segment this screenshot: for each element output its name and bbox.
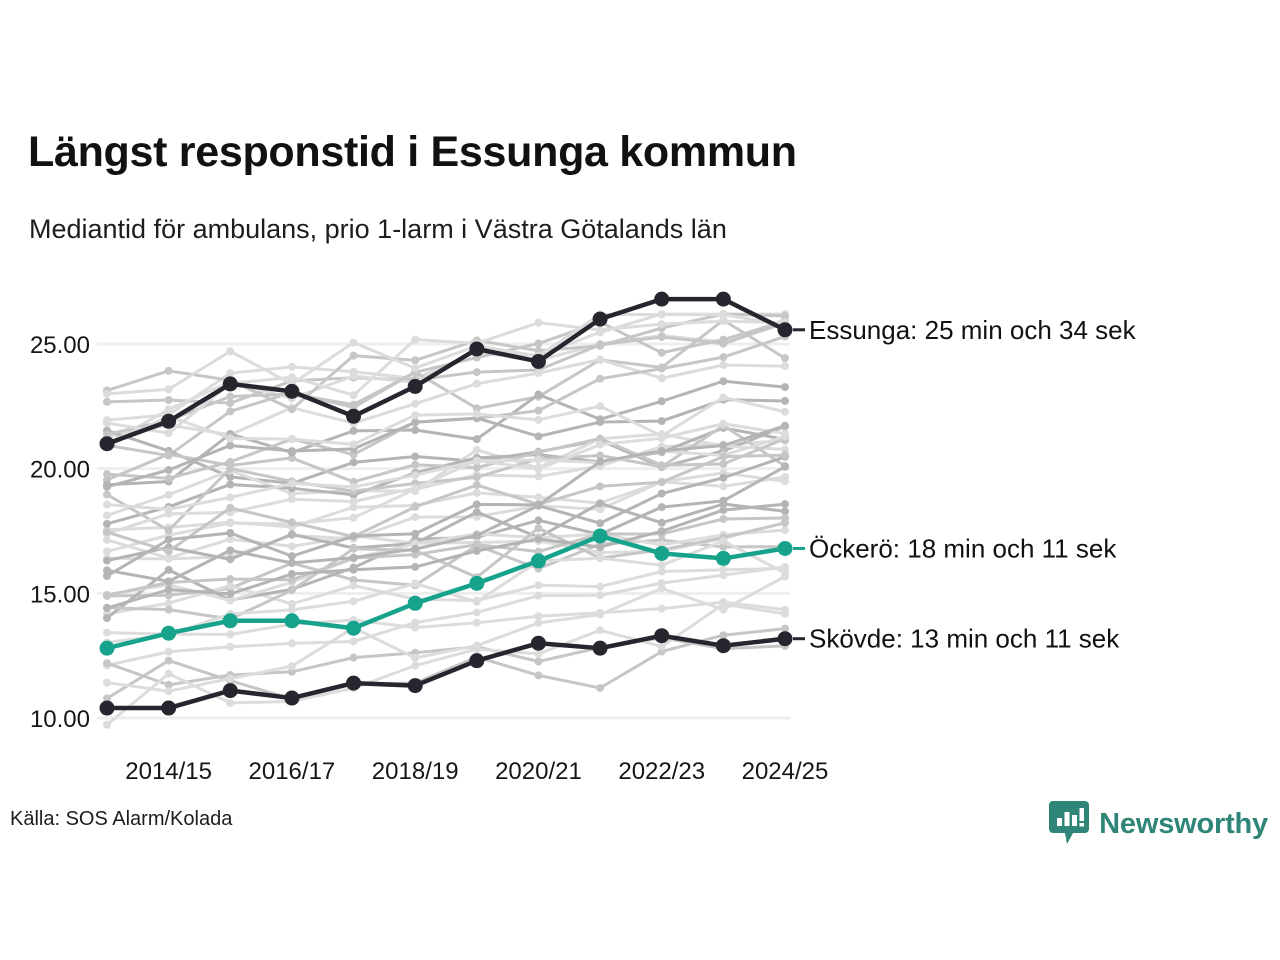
background-series-point <box>103 470 111 478</box>
background-series-point <box>473 547 481 555</box>
background-series-point <box>596 611 604 619</box>
background-series-point <box>534 416 542 424</box>
background-series-point <box>411 619 419 627</box>
x-axis-tick-label: 2022/23 <box>618 758 705 785</box>
series-point <box>223 683 238 698</box>
background-series-point <box>658 432 666 440</box>
background-series-point <box>411 411 419 419</box>
background-series-point <box>350 532 358 540</box>
background-series-point <box>473 464 481 472</box>
background-series-point <box>473 380 481 388</box>
brand-name: Newsworthy <box>1099 808 1268 841</box>
series-point <box>531 553 546 568</box>
background-series-point <box>226 699 234 707</box>
background-series-point <box>226 674 234 682</box>
series-point <box>408 596 423 611</box>
background-series-point <box>288 435 296 443</box>
background-series-point <box>103 501 111 509</box>
background-series-point <box>596 375 604 383</box>
background-series-point <box>534 581 542 589</box>
background-series-point <box>534 524 542 532</box>
background-series-point <box>534 650 542 658</box>
background-series-point <box>534 391 542 399</box>
background-series-point <box>411 530 419 538</box>
background-series-point <box>534 493 542 501</box>
background-series-point <box>411 563 419 571</box>
background-series-point <box>350 554 358 562</box>
background-series-point <box>658 643 666 651</box>
background-series-point <box>596 326 604 334</box>
background-series-point <box>719 420 727 428</box>
background-series-point <box>165 577 173 585</box>
background-series-point <box>781 473 789 481</box>
background-series-point <box>658 374 666 382</box>
background-series-point <box>103 557 111 565</box>
background-series-point <box>226 434 234 442</box>
background-series-point <box>288 363 296 371</box>
background-series-point <box>781 569 789 577</box>
background-series-point <box>226 518 234 526</box>
background-series-point <box>103 572 111 580</box>
background-series-point <box>165 657 173 665</box>
background-series-point <box>534 407 542 415</box>
background-series-point <box>534 516 542 524</box>
source-note: Källa: SOS Alarm/Kolada <box>10 808 232 831</box>
background-series-point <box>165 606 173 614</box>
series-point <box>346 621 361 636</box>
background-series-point <box>350 440 358 448</box>
background-series-point <box>473 489 481 497</box>
series-point <box>593 641 608 656</box>
background-series-point <box>719 393 727 401</box>
background-series-point <box>781 432 789 440</box>
background-series-point <box>658 365 666 373</box>
background-series-point <box>165 547 173 555</box>
background-series-point <box>350 483 358 491</box>
background-series-point <box>719 537 727 545</box>
series-point <box>346 409 361 424</box>
background-series-point <box>534 472 542 480</box>
background-series-point <box>350 654 358 662</box>
series-point <box>654 292 669 307</box>
background-series-point <box>226 458 234 466</box>
background-series-point <box>719 453 727 461</box>
background-series-point <box>658 478 666 486</box>
background-series-point <box>226 575 234 583</box>
series-point <box>469 576 484 591</box>
series-point <box>223 376 238 391</box>
series-point <box>716 292 731 307</box>
background-series-point <box>165 491 173 499</box>
background-series-point <box>719 482 727 490</box>
series-point <box>161 701 176 716</box>
background-series-point <box>165 670 173 678</box>
background-series-point <box>658 584 666 592</box>
background-series-point <box>473 368 481 376</box>
x-axis-tick-label: 2018/19 <box>372 758 459 785</box>
background-series-point <box>103 511 111 519</box>
background-series-point <box>596 342 604 350</box>
series-point <box>284 613 299 628</box>
background-series-point <box>165 405 173 413</box>
background-series-point <box>103 604 111 612</box>
background-series-point <box>473 500 481 508</box>
background-series-point <box>165 566 173 574</box>
background-series-point <box>658 397 666 405</box>
series-point <box>593 528 608 543</box>
background-series-point <box>226 441 234 449</box>
background-series-point <box>781 451 789 459</box>
x-axis-labels: 2014/152016/172018/192020/212022/232024/… <box>125 758 828 785</box>
background-series <box>103 600 789 729</box>
series-label-essunga: Essunga: 25 min och 34 sek <box>809 315 1137 345</box>
background-series-point <box>596 356 604 364</box>
background-series-point <box>658 503 666 511</box>
background-series-point <box>781 408 789 416</box>
background-series-point <box>103 721 111 729</box>
background-series-point <box>226 347 234 355</box>
series-point <box>100 701 115 716</box>
series-point <box>778 322 793 337</box>
background-series-point <box>350 391 358 399</box>
background-series-point <box>103 614 111 622</box>
background-series-point <box>658 349 666 357</box>
background-series-point <box>103 520 111 528</box>
series-point <box>161 414 176 429</box>
background-series-point <box>473 619 481 627</box>
background-series-point <box>350 637 358 645</box>
series-point <box>531 636 546 651</box>
background-series-point <box>719 515 727 523</box>
background-series-point <box>719 311 727 319</box>
brand-logo: Newsworthy <box>1049 798 1268 850</box>
series-point <box>408 678 423 693</box>
background-series-point <box>473 531 481 539</box>
background-series-point <box>596 482 604 490</box>
background-series-point <box>534 369 542 377</box>
series-point <box>284 384 299 399</box>
series-point <box>408 379 423 394</box>
x-axis-tick-label: 2024/25 <box>742 758 829 785</box>
x-axis-tick-label: 2020/21 <box>495 758 582 785</box>
background-series-point <box>165 586 173 594</box>
series-point <box>654 546 669 561</box>
background-series-point <box>103 659 111 667</box>
background-series-point <box>781 397 789 405</box>
background-series-point <box>350 514 358 522</box>
background-series-point <box>288 559 296 567</box>
background-series-point <box>658 490 666 498</box>
background-series-point <box>719 361 727 369</box>
background-series-point <box>288 552 296 560</box>
background-series-point <box>165 505 173 513</box>
background-series-point <box>719 631 727 639</box>
background-series-point <box>165 466 173 474</box>
background-series-point <box>226 493 234 501</box>
background-series-group <box>103 310 789 729</box>
background-series-point <box>103 390 111 398</box>
background-series-point <box>411 356 419 364</box>
background-series-point <box>596 519 604 527</box>
newsworthy-bars-bubble-icon <box>1049 799 1089 850</box>
background-series-point <box>288 662 296 670</box>
background-series-point <box>596 458 604 466</box>
x-axis-tick-label: 2014/15 <box>125 758 212 785</box>
background-series-point <box>534 535 542 543</box>
background-series-point <box>596 583 604 591</box>
background-series-point <box>473 642 481 650</box>
background-series-point <box>658 561 666 569</box>
background-series-point <box>534 340 542 348</box>
background-series-point <box>165 526 173 534</box>
background-series-point <box>411 484 419 492</box>
series-point <box>716 638 731 653</box>
background-series-point <box>411 503 419 511</box>
background-series-point <box>473 410 481 418</box>
background-series-point <box>719 474 727 482</box>
background-series-point <box>350 582 358 590</box>
background-series-point <box>288 570 296 578</box>
series-point <box>654 628 669 643</box>
background-series-point <box>165 648 173 656</box>
background-series-point <box>719 506 727 514</box>
background-series-point <box>103 483 111 491</box>
background-series-point <box>103 398 111 406</box>
background-series-point <box>288 447 296 455</box>
series-point <box>716 551 731 566</box>
background-series-point <box>596 591 604 599</box>
background-series-point <box>473 435 481 443</box>
background-series-point <box>781 526 789 534</box>
background-series-point <box>411 336 419 344</box>
background-series-point <box>596 499 604 507</box>
series-point <box>100 641 115 656</box>
series-point <box>778 631 793 646</box>
background-series-point <box>226 392 234 400</box>
background-series-point <box>288 495 296 503</box>
background-series-point <box>411 513 419 521</box>
background-series-point <box>411 662 419 670</box>
background-series-point <box>226 546 234 554</box>
background-series-point <box>350 566 358 574</box>
background-series-point <box>719 441 727 449</box>
background-series-point <box>226 504 234 512</box>
background-series-point <box>473 608 481 616</box>
series-point <box>346 676 361 691</box>
background-series-point <box>781 519 789 527</box>
background-series-point <box>596 626 604 634</box>
y-axis-tick-label: 10.00 <box>30 706 90 733</box>
background-series-point <box>350 372 358 380</box>
background-series-point <box>411 426 419 434</box>
background-series-point <box>411 461 419 469</box>
background-series-point <box>781 500 789 508</box>
x-axis-tick-label: 2016/17 <box>249 758 336 785</box>
series-point <box>223 613 238 628</box>
series-point <box>778 541 793 556</box>
series-point <box>284 691 299 706</box>
background-series-point <box>226 590 234 598</box>
background-series-point <box>165 367 173 375</box>
background-series-point <box>473 508 481 516</box>
background-series-point <box>226 369 234 377</box>
background-series-point <box>350 498 358 506</box>
background-series-point <box>658 417 666 425</box>
background-series-point <box>781 610 789 618</box>
background-series-point <box>103 491 111 499</box>
background-series-point <box>288 606 296 614</box>
background-series-point <box>411 400 419 408</box>
background-series-point <box>719 353 727 361</box>
background-series-point <box>473 446 481 454</box>
background-series-point <box>658 463 666 471</box>
series-annotations: Essunga: 25 min och 34 sekÖckerö: 18 min… <box>793 315 1137 654</box>
background-series-point <box>288 480 296 488</box>
background-series-point <box>534 592 542 600</box>
background-series-point <box>719 460 727 468</box>
background-series-point <box>165 450 173 458</box>
background-series-point <box>103 629 111 637</box>
background-series-point <box>534 671 542 679</box>
background-series-point <box>473 481 481 489</box>
background-series-point <box>534 456 542 464</box>
background-series-point <box>534 465 542 473</box>
background-series-point <box>781 362 789 370</box>
background-series-point <box>226 643 234 651</box>
background-series-point <box>411 654 419 662</box>
background-series-point <box>658 311 666 319</box>
background-series-point <box>534 319 542 327</box>
background-series-point <box>596 684 604 692</box>
y-axis-tick-label: 20.00 <box>30 457 90 484</box>
background-series-point <box>658 519 666 527</box>
background-series <box>103 634 789 689</box>
series-label-öckerö: Öckerö: 18 min och 11 sek <box>809 533 1117 563</box>
background-series-point <box>781 354 789 362</box>
series-point <box>531 354 546 369</box>
background-series-point <box>165 429 173 437</box>
background-series-point <box>411 452 419 460</box>
series-point <box>469 341 484 356</box>
background-series-point <box>288 639 296 647</box>
background-series-point <box>781 422 789 430</box>
background-series-point <box>226 630 234 638</box>
background-series-point <box>350 352 358 360</box>
background-series-point <box>473 457 481 465</box>
background-series-point <box>411 545 419 553</box>
background-series-point <box>596 554 604 562</box>
background-series-point <box>596 402 604 410</box>
background-series-point <box>165 396 173 404</box>
series-label-skövde: Skövde: 13 min och 11 sek <box>809 624 1120 654</box>
background-series-point <box>288 518 296 526</box>
background-series-point <box>658 447 666 455</box>
background-series-point <box>226 555 234 563</box>
background-series-point <box>103 528 111 536</box>
background-series-line <box>107 314 785 393</box>
series-point <box>100 436 115 451</box>
background-series-point <box>226 529 234 537</box>
background-series-point <box>411 364 419 372</box>
background-series-point <box>658 527 666 535</box>
background-series-point <box>596 441 604 449</box>
y-axis-labels: 10.0015.0020.0025.00 <box>30 332 90 733</box>
background-series-point <box>350 545 358 553</box>
background-series-point <box>658 320 666 328</box>
background-series-point <box>288 542 296 550</box>
background-series-point <box>534 619 542 627</box>
background-series-point <box>473 598 481 606</box>
y-axis-tick-label: 25.00 <box>30 332 90 359</box>
background-series-point <box>165 385 173 393</box>
background-series-point <box>103 547 111 555</box>
background-series-point <box>534 657 542 665</box>
background-series-line <box>107 314 785 444</box>
background-series-point <box>103 419 111 427</box>
background-series-point <box>658 605 666 613</box>
background-series-point <box>719 336 727 344</box>
background-series-point <box>350 427 358 435</box>
background-series-point <box>103 679 111 687</box>
background-series-point <box>534 501 542 509</box>
series-point <box>593 312 608 327</box>
y-axis-tick-label: 15.00 <box>30 581 90 608</box>
background-series-point <box>350 458 358 466</box>
series-point <box>161 626 176 641</box>
background-series-point <box>350 597 358 605</box>
background-series-point <box>534 432 542 440</box>
background-series-point <box>288 530 296 538</box>
background-series-point <box>226 480 234 488</box>
background-series-point <box>165 536 173 544</box>
background-series-point <box>411 418 419 426</box>
background-series-point <box>165 687 173 695</box>
background-series-point <box>781 463 789 471</box>
background-series-point <box>719 377 727 385</box>
background-series-point <box>473 473 481 481</box>
background-series-point <box>596 543 604 551</box>
background-series-point <box>719 566 727 574</box>
background-series-point <box>165 474 173 482</box>
background-series-point <box>103 591 111 599</box>
background-series-point <box>350 401 358 409</box>
background-series-point <box>350 339 358 347</box>
background-series-point <box>411 471 419 479</box>
background-series-point <box>658 333 666 341</box>
background-series-point <box>288 586 296 594</box>
background-series-point <box>781 383 789 391</box>
background-series-point <box>288 405 296 413</box>
series-point <box>469 653 484 668</box>
background-series-point <box>411 580 419 588</box>
background-series-point <box>226 407 234 415</box>
background-series-point <box>719 606 727 614</box>
background-series-point <box>596 418 604 426</box>
